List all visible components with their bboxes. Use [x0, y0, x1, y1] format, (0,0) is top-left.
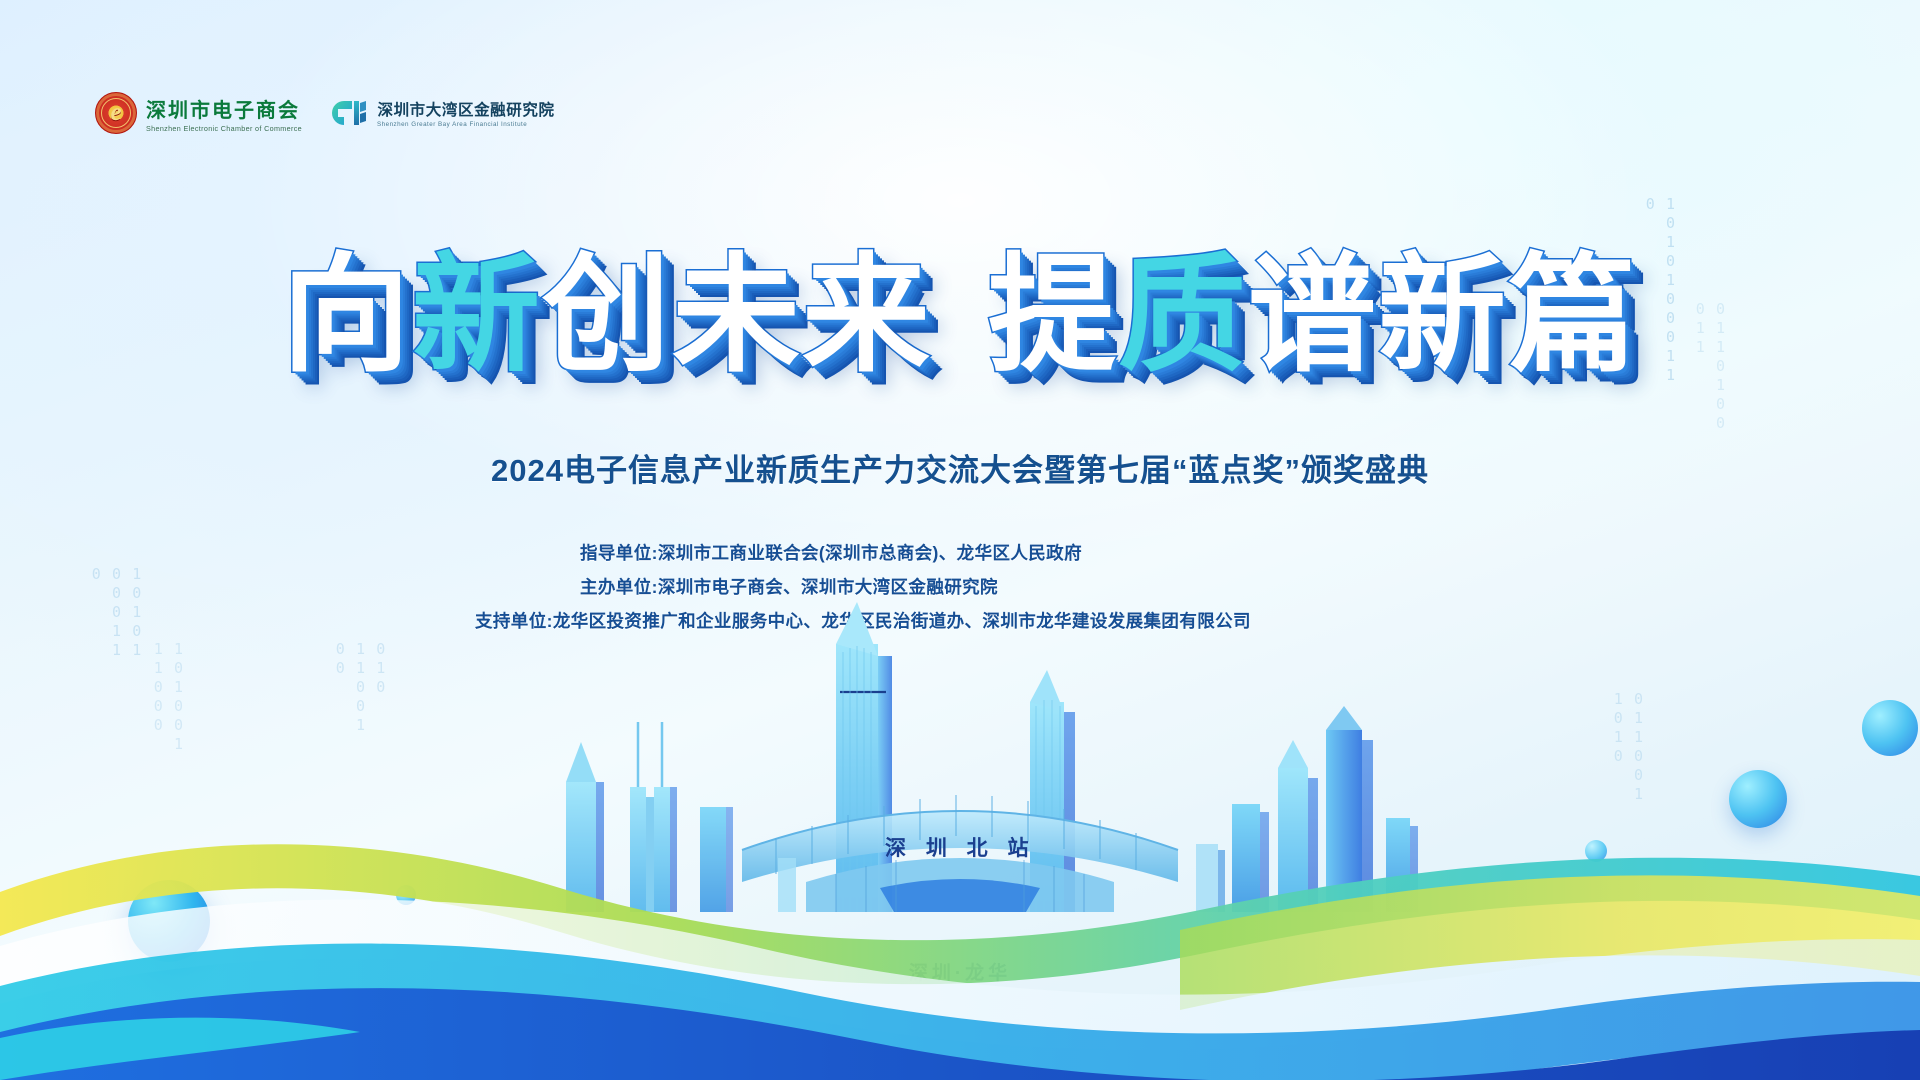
red-seal-emblem-icon: [95, 92, 137, 134]
title-char-5: 来: [802, 252, 932, 380]
sponsor-logo-bar: 深圳市电子商会 Shenzhen Electronic Chamber of C…: [95, 92, 555, 134]
logo-secc-en: Shenzhen Electronic Chamber of Commerce: [146, 124, 302, 133]
title-char-4: 未: [672, 252, 802, 380]
decorative-wave-bands: [0, 780, 1920, 1080]
title-char-9: 新: [1378, 252, 1508, 380]
organizer-line-guidance: 指导单位:深圳市工商业联合会(深圳市总商会)、龙华区人民政府: [580, 540, 1340, 565]
title-char-3: 创: [542, 252, 672, 380]
logo-gbi-cn: 深圳市大湾区金融研究院: [377, 98, 554, 120]
title-char-10: 篇: [1508, 252, 1638, 380]
logo-gba-financial-institute: 深圳市大湾区金融研究院 Shenzhen Greater Bay Area Fi…: [328, 98, 554, 128]
title-char-7: 质: [1118, 252, 1248, 380]
title-char-2: 新: [412, 252, 542, 380]
title-char-8: 谱: [1248, 252, 1378, 380]
logo-shenzhen-electronic-chamber: 深圳市电子商会 Shenzhen Electronic Chamber of C…: [95, 92, 308, 134]
main-title: 向 新 创 未 来 提 质 谱 新 篇: [0, 252, 1920, 380]
poster-canvas: 10101 00011 0 101001 11000 010 11001 00 …: [0, 0, 1920, 1080]
logo-secc-cn: 深圳市电子商会: [146, 94, 308, 123]
main-title-text: 向 新 创 未 来 提 质 谱 新 篇: [282, 252, 1638, 380]
logo-gbi-en: Shenzhen Greater Bay Area Financial Inst…: [377, 121, 545, 128]
gbi-monogram-icon: [328, 98, 368, 128]
title-char-6: 提: [988, 252, 1118, 380]
event-subtitle: 2024电子信息产业新质生产力交流大会暨第七届“蓝点奖”颁奖盛典: [0, 445, 1920, 490]
title-char-1: 向: [282, 252, 412, 380]
